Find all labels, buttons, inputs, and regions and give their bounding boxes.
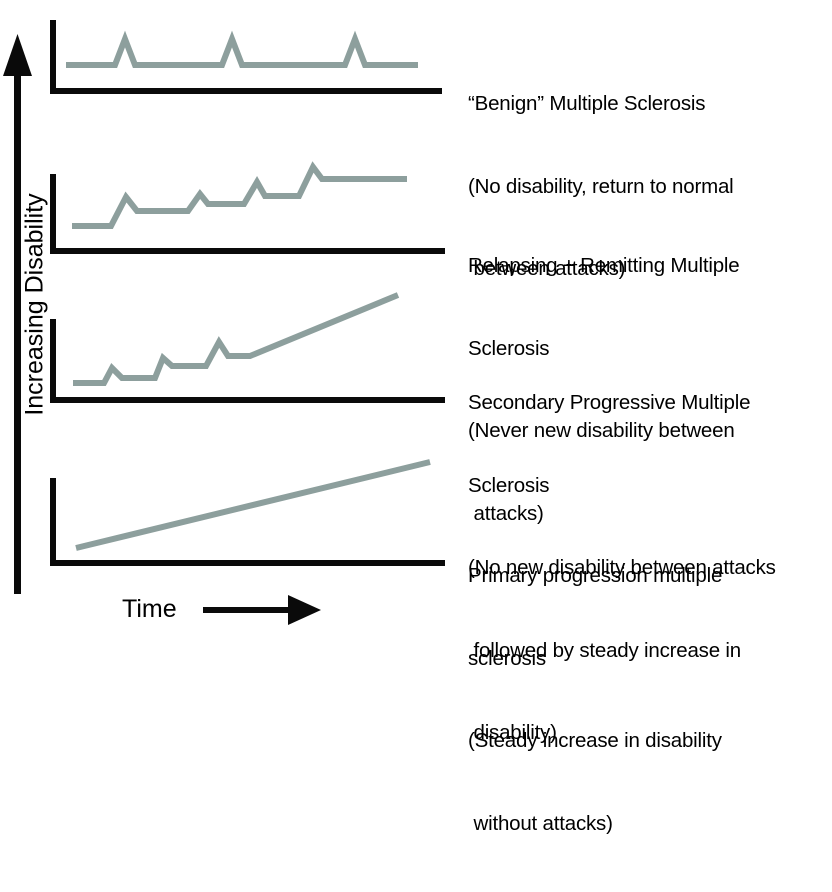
panel-relapsing-remitting	[50, 167, 445, 254]
panel-secondary-progressive-curve	[73, 295, 398, 383]
caption-ppms-line-2: sclerosis	[468, 645, 722, 673]
caption-ppms-line-4: without attacks)	[468, 810, 722, 838]
panel-benign-axes	[50, 20, 442, 94]
caption-spms-line-1: Secondary Progressive Multiple	[468, 389, 776, 417]
panel-secondary-progressive	[50, 295, 445, 403]
caption-benign-line-2: (No disability, return to normal	[468, 173, 734, 201]
panel-relapsing-remitting-curve	[72, 167, 407, 226]
panel-benign	[50, 20, 442, 94]
panel-primary-progressive	[50, 462, 445, 566]
caption-ppms-line-1: Primary progression multiple	[468, 562, 722, 590]
panel-benign-curve	[66, 39, 418, 65]
caption-spms-line-2: Sclerosis	[468, 472, 776, 500]
caption-benign-line-1: “Benign” Multiple Sclerosis	[468, 90, 734, 118]
y-axis-label: Increasing Disability	[21, 175, 50, 435]
panel-relapsing-remitting-axes	[50, 174, 445, 254]
panel-primary-progressive-curve	[76, 462, 430, 548]
caption-rrms-line-1: Relapsing + Remitting Multiple	[468, 252, 739, 280]
caption-primary-progressive: Primary progression multiple sclerosis (…	[468, 507, 722, 892]
caption-ppms-line-3: (Steady increase in disability	[468, 727, 722, 755]
panel-primary-progressive-axes	[50, 478, 445, 566]
x-axis-arrow-icon	[203, 595, 321, 625]
ms-disease-course-diagram: Increasing Disability Time “Benign” Mult…	[0, 0, 832, 641]
x-axis-label: Time	[122, 595, 177, 624]
panel-secondary-progressive-axes	[50, 319, 445, 403]
